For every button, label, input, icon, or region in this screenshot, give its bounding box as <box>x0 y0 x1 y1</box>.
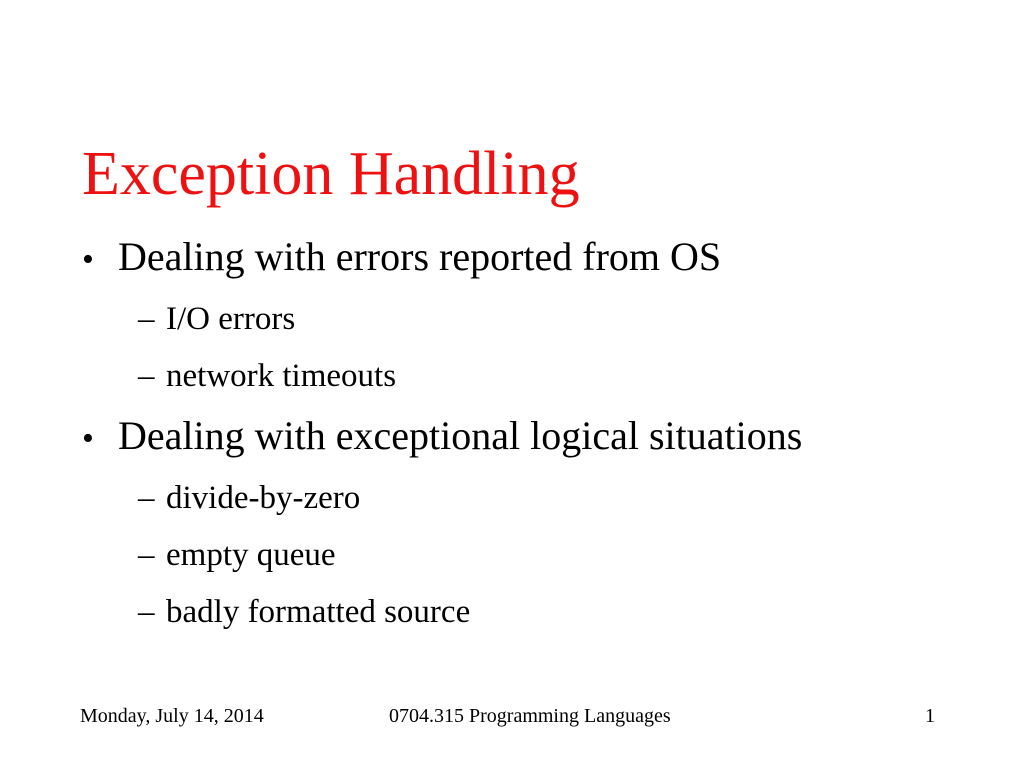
bullet-item-level-2: –empty queue <box>82 527 962 584</box>
bullet-dash-icon: – <box>138 584 166 641</box>
slide-footer: Monday, July 14, 2014 0704.315 Programmi… <box>0 703 1024 733</box>
bullet-text: I/O errors <box>166 291 962 348</box>
bullet-item-level-2: –divide-by-zero <box>82 470 962 527</box>
bullet-item-level-2: –network timeouts <box>82 348 962 405</box>
bullet-text: divide-by-zero <box>166 470 962 527</box>
footer-page-number: 1 <box>925 703 935 729</box>
bullet-text: network timeouts <box>166 348 962 405</box>
bullet-item-level-2: –I/O errors <box>82 291 962 348</box>
bullet-dash-icon: – <box>138 291 166 348</box>
bullet-dash-icon: – <box>138 348 166 405</box>
bullet-text: empty queue <box>166 527 962 584</box>
page-title: Exception Handling <box>82 139 942 209</box>
slide-body-content: •Dealing with errors reported from OS–I/… <box>82 226 962 641</box>
bullet-dash-icon: – <box>138 470 166 527</box>
bullet-dot-icon: • <box>82 229 118 291</box>
bullet-text: Dealing with errors reported from OS <box>118 226 962 288</box>
bullet-text: badly formatted source <box>166 584 962 641</box>
bullet-text: Dealing with exceptional logical situati… <box>118 405 962 467</box>
presentation-slide: Exception Handling •Dealing with errors … <box>0 0 1024 768</box>
bullet-dash-icon: – <box>138 527 166 584</box>
bullet-item-level-2: –badly formatted source <box>82 584 962 641</box>
bullet-item-level-1: •Dealing with exceptional logical situat… <box>82 405 962 470</box>
footer-date: Monday, July 14, 2014 <box>80 703 264 729</box>
bullet-item-level-1: •Dealing with errors reported from OS <box>82 226 962 291</box>
footer-course-title: 0704.315 Programming Languages <box>389 703 671 729</box>
bullet-dot-icon: • <box>82 408 118 470</box>
